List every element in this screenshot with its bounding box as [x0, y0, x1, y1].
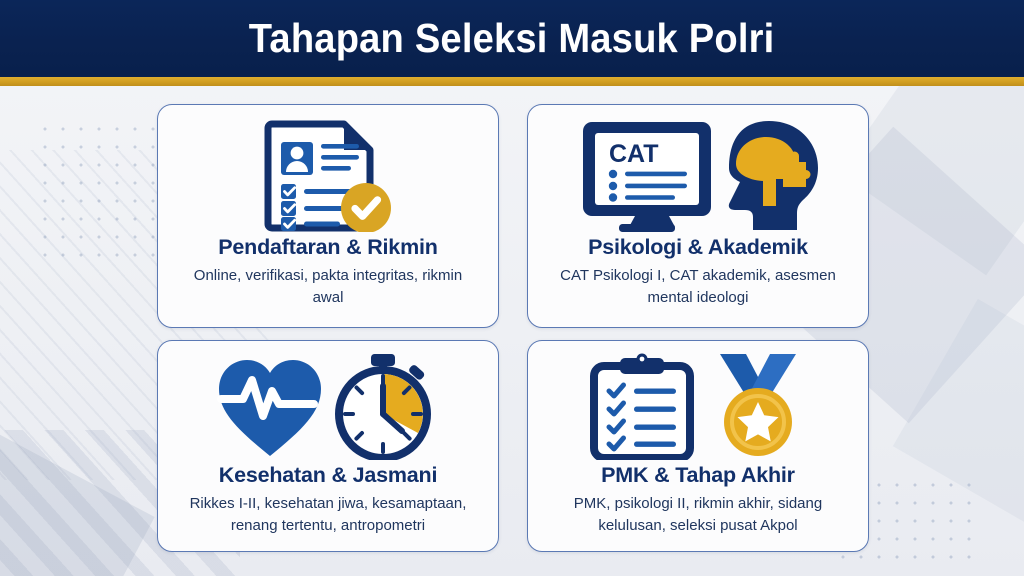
header-bar: Tahapan Seleksi Masuk Polri — [0, 0, 1024, 77]
stage-card-pendaftaran[interactable]: Pendaftaran & Rikmin Online, verifikasi,… — [157, 104, 499, 328]
gold-accent-divider — [0, 77, 1024, 86]
monitor-cat-icon: CAT — [573, 116, 823, 232]
page-title: Tahapan Seleksi Masuk Polri — [249, 15, 775, 62]
icon-row — [213, 351, 443, 461]
clipboard-medal-icons — [580, 352, 816, 460]
stopwatch-icon — [339, 354, 427, 458]
card-title: PMK & Tahap Akhir — [601, 463, 795, 488]
slide-root: Tahapan Seleksi Masuk Polri — [0, 0, 1024, 576]
heart-pulse-stopwatch-icons — [213, 352, 443, 460]
icon-row — [244, 115, 412, 233]
icon-row — [580, 351, 816, 461]
medal-star-icon — [720, 354, 796, 456]
card-subtitle: CAT Psikologi I, CAT akademik, asesmen m… — [548, 265, 848, 309]
stage-card-psikologi[interactable]: CAT Psikologi & Akademik CA — [527, 104, 869, 328]
stage-card-kesehatan[interactable]: Kesehatan & Jasmani Rikkes I-II, kesehat… — [157, 340, 499, 552]
stage-card-grid: Pendaftaran & Rikmin Online, verifikasi,… — [157, 104, 867, 552]
card-title: Pendaftaran & Rikmin — [218, 235, 437, 260]
card-subtitle: PMK, psikologi II, rikmin akhir, sidang … — [548, 493, 848, 537]
clipboard-checklist-icon — [594, 354, 690, 459]
card-title: Kesehatan & Jasmani — [219, 463, 437, 488]
card-title: Psikologi & Akademik — [588, 235, 808, 260]
screen-label: CAT — [609, 140, 659, 168]
document-id-checklist-icon — [244, 116, 412, 232]
icon-row: CAT — [573, 115, 823, 233]
head-brain-puzzle-icon — [729, 121, 818, 230]
card-subtitle: Online, verifikasi, pakta integritas, ri… — [178, 265, 478, 309]
heart-pulse-icon — [219, 360, 321, 456]
card-subtitle: Rikkes I-II, kesehatan jiwa, kesamaptaan… — [178, 493, 478, 537]
stage-card-pmk[interactable]: PMK & Tahap Akhir PMK, psikologi II, rik… — [527, 340, 869, 552]
